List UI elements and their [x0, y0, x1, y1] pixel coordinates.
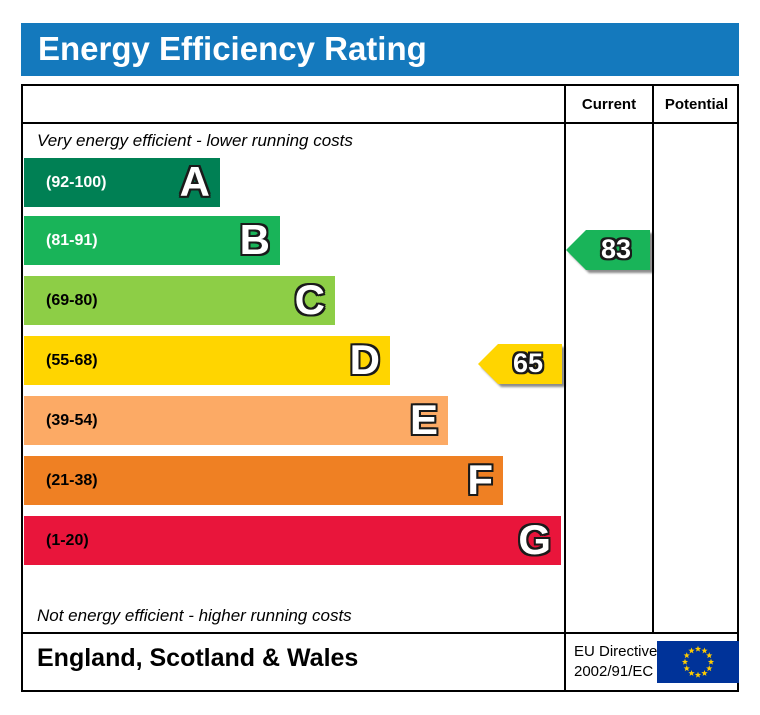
band-range-d: (55-68)	[46, 336, 98, 385]
page-title: Energy Efficiency Rating	[38, 30, 427, 68]
band-range-g: (1-20)	[46, 516, 89, 565]
band-e: (39-54) E	[24, 396, 448, 445]
band-g: (1-20) G	[24, 516, 561, 565]
band-b: (81-91) B	[24, 216, 280, 265]
certificate-footer: England, Scotland & Wales EU Directive 2…	[21, 634, 739, 692]
band-range-a: (92-100)	[46, 158, 106, 207]
band-range-b: (81-91)	[46, 216, 98, 265]
column-header-current: Current	[566, 94, 652, 116]
band-range-e: (39-54)	[46, 396, 98, 445]
current-column-divider	[564, 86, 566, 632]
band-letter-d: D	[350, 336, 380, 385]
title-bar: Energy Efficiency Rating	[21, 23, 739, 76]
eu-directive-line1: EU Directive	[574, 642, 657, 662]
band-letter-c: C	[295, 276, 325, 325]
band-letter-f: F	[467, 456, 493, 505]
current-rating-value: 65	[500, 342, 556, 386]
band-letter-b: B	[240, 216, 270, 265]
band-range-c: (69-80)	[46, 276, 98, 325]
region-label: England, Scotland & Wales	[37, 644, 358, 673]
current-rating-marker: 65	[478, 342, 562, 386]
band-a: (92-100) A	[24, 158, 220, 207]
header-divider	[23, 122, 737, 124]
band-d: (55-68) D	[24, 336, 390, 385]
caption-inefficient: Not energy efficient - higher running co…	[37, 606, 352, 626]
band-letter-g: G	[518, 516, 551, 565]
band-letter-a: A	[180, 158, 210, 207]
eu-directive-line2: 2002/91/EC	[574, 662, 657, 682]
potential-rating-marker: 83	[566, 228, 650, 272]
band-range-f: (21-38)	[46, 456, 98, 505]
eu-flag-icon	[657, 641, 739, 683]
potential-column-divider	[652, 86, 654, 632]
band-f: (21-38) F	[24, 456, 503, 505]
energy-efficiency-rating-certificate: Energy Efficiency Rating Current Potenti…	[0, 0, 760, 715]
eu-directive-label: EU Directive 2002/91/EC	[574, 642, 657, 682]
band-c: (69-80) C	[24, 276, 335, 325]
band-letter-e: E	[410, 396, 438, 445]
footer-divider	[564, 634, 566, 690]
potential-rating-value: 83	[588, 228, 644, 272]
column-header-potential: Potential	[654, 94, 739, 116]
rating-chart: Current Potential Very energy efficient …	[21, 84, 739, 634]
caption-efficient: Very energy efficient - lower running co…	[37, 131, 353, 151]
